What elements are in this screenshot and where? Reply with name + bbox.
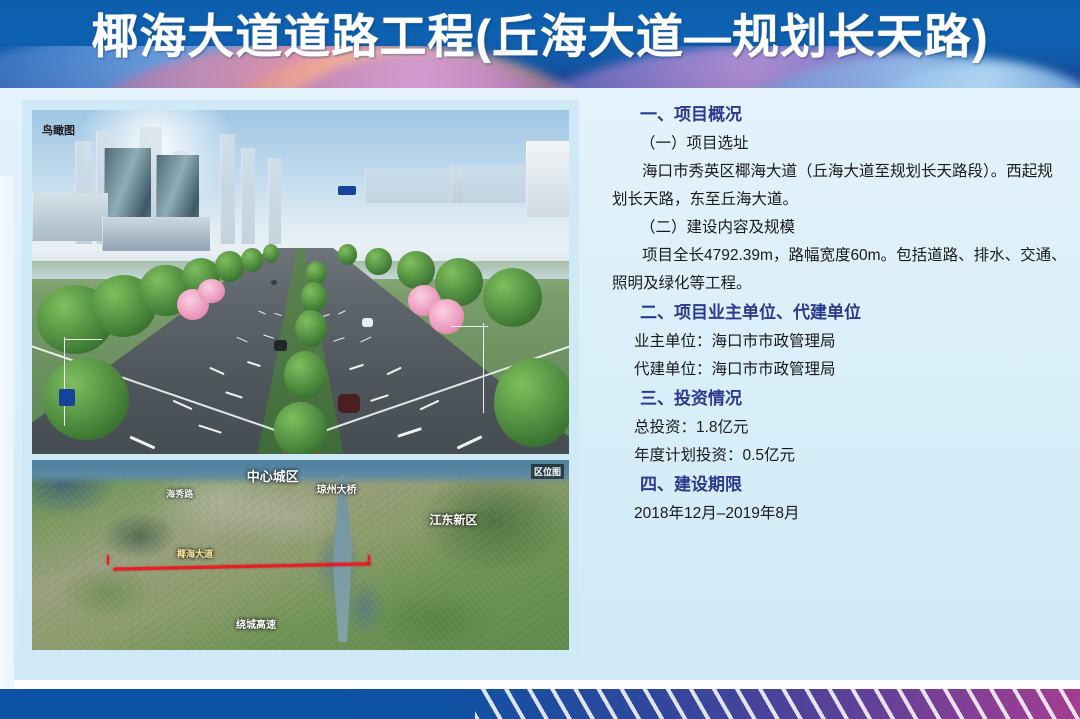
retail-podium: [102, 217, 210, 251]
rendering-label: 鸟瞰图: [42, 122, 75, 138]
bottom-decoration-bar: [0, 689, 1080, 719]
street-tree: [494, 358, 569, 447]
location-map-corner-label: 区位图: [531, 464, 564, 479]
route-start-marker: [107, 555, 109, 565]
annual-investment: 年度计划投资：0.5亿元: [634, 442, 1067, 470]
street-tree: [483, 268, 542, 326]
median-tree: [301, 282, 328, 313]
slide-root: 椰海大道道路工程(丘海大道—规划长天路): [0, 0, 1080, 719]
vehicle: [338, 394, 359, 413]
right-building: [526, 141, 569, 217]
content-area: 鸟瞰图 中心城区 海秀路 琼州大桥 江东新区 绕城高速 椰海大道 区位图: [0, 88, 1080, 680]
street-tree: [215, 251, 245, 282]
total-investment: 总投资：1.8亿元: [634, 414, 1067, 442]
section-1-paragraph-2: 项目全长4792.39m，路幅宽度60m。包括道路、排水、交通、照明及绿化等工程…: [612, 242, 1067, 298]
street-tree: [263, 244, 279, 263]
section-2-heading: 二、项目业主单位、代建单位: [640, 298, 1067, 328]
street-tree: [365, 248, 392, 276]
left-edge-strip: [0, 176, 14, 719]
roadside-sign: [59, 389, 75, 406]
satellite-texture: [32, 460, 569, 650]
rendering-image: 鸟瞰图: [32, 110, 569, 454]
section-3-heading: 三、投资情况: [640, 384, 1067, 414]
page-title: 椰海大道道路工程(丘海大道—规划长天路): [0, 6, 1080, 68]
street-tree: [43, 358, 129, 441]
lamp-arm: [451, 326, 489, 327]
street-tree: [241, 248, 262, 272]
median-tree: [284, 351, 327, 399]
median-tree: [274, 402, 328, 454]
section-4-heading: 四、建设期限: [640, 470, 1067, 500]
location-map-image: 中心城区 海秀路 琼州大桥 江东新区 绕城高速 椰海大道 区位图: [32, 460, 569, 650]
podium-building: [32, 193, 108, 241]
title-banner: 椰海大道道路工程(丘海大道—规划长天路): [0, 0, 1080, 88]
street-tree: [338, 244, 357, 265]
vehicle: [362, 318, 373, 327]
section-1-heading: 一、项目概况: [640, 100, 1067, 130]
section-1-sub-1: （一）项目选址: [640, 130, 1067, 158]
construction-period: 2018年12月–2019年8月: [634, 500, 1067, 528]
text-column: 一、项目概况 （一）项目选址 海口市秀英区椰海大道（丘海大道至规划长天路段）。西…: [612, 100, 1067, 528]
image-column: 鸟瞰图 中心城区 海秀路 琼州大桥 江东新区 绕城高速 椰海大道 区位图: [22, 100, 579, 660]
agent-unit: 代建单位：海口市市政管理局: [634, 356, 1067, 384]
overhead-sign: [338, 186, 356, 195]
street-lamp: [483, 323, 484, 412]
section-1-paragraph-1: 海口市秀英区椰海大道（丘海大道至规划长天路段）。西起规划长天路，东至丘海大道。: [612, 158, 1067, 214]
far-building: [241, 148, 255, 244]
sea-area: [32, 460, 569, 485]
route-end-marker: [368, 555, 370, 565]
section-1-sub-2: （二）建设内容及规模: [640, 214, 1067, 242]
street-lamp: [64, 337, 65, 426]
far-building: [365, 168, 463, 202]
map-label-qiongzhou-bridge: 琼州大桥: [317, 481, 357, 496]
far-building: [220, 134, 235, 244]
far-building: [451, 165, 538, 203]
map-label-haixiu-road: 海秀路: [166, 487, 193, 500]
map-label-yehai-avenue: 椰海大道: [177, 547, 213, 560]
owner-unit: 业主单位：海口市市政管理局: [634, 328, 1067, 356]
street-tree: [397, 251, 435, 289]
blossom-tree: [429, 299, 464, 333]
map-label-central-district: 中心城区: [247, 466, 299, 485]
far-building: [268, 158, 281, 244]
map-label-jiangdong-new-district: 江东新区: [429, 511, 477, 528]
blossom-tree: [198, 279, 225, 303]
map-label-ring-expressway: 绕城高速: [236, 616, 276, 631]
lamp-arm: [64, 339, 102, 340]
diagonal-stripes: [475, 689, 1080, 719]
vehicle: [274, 340, 287, 351]
